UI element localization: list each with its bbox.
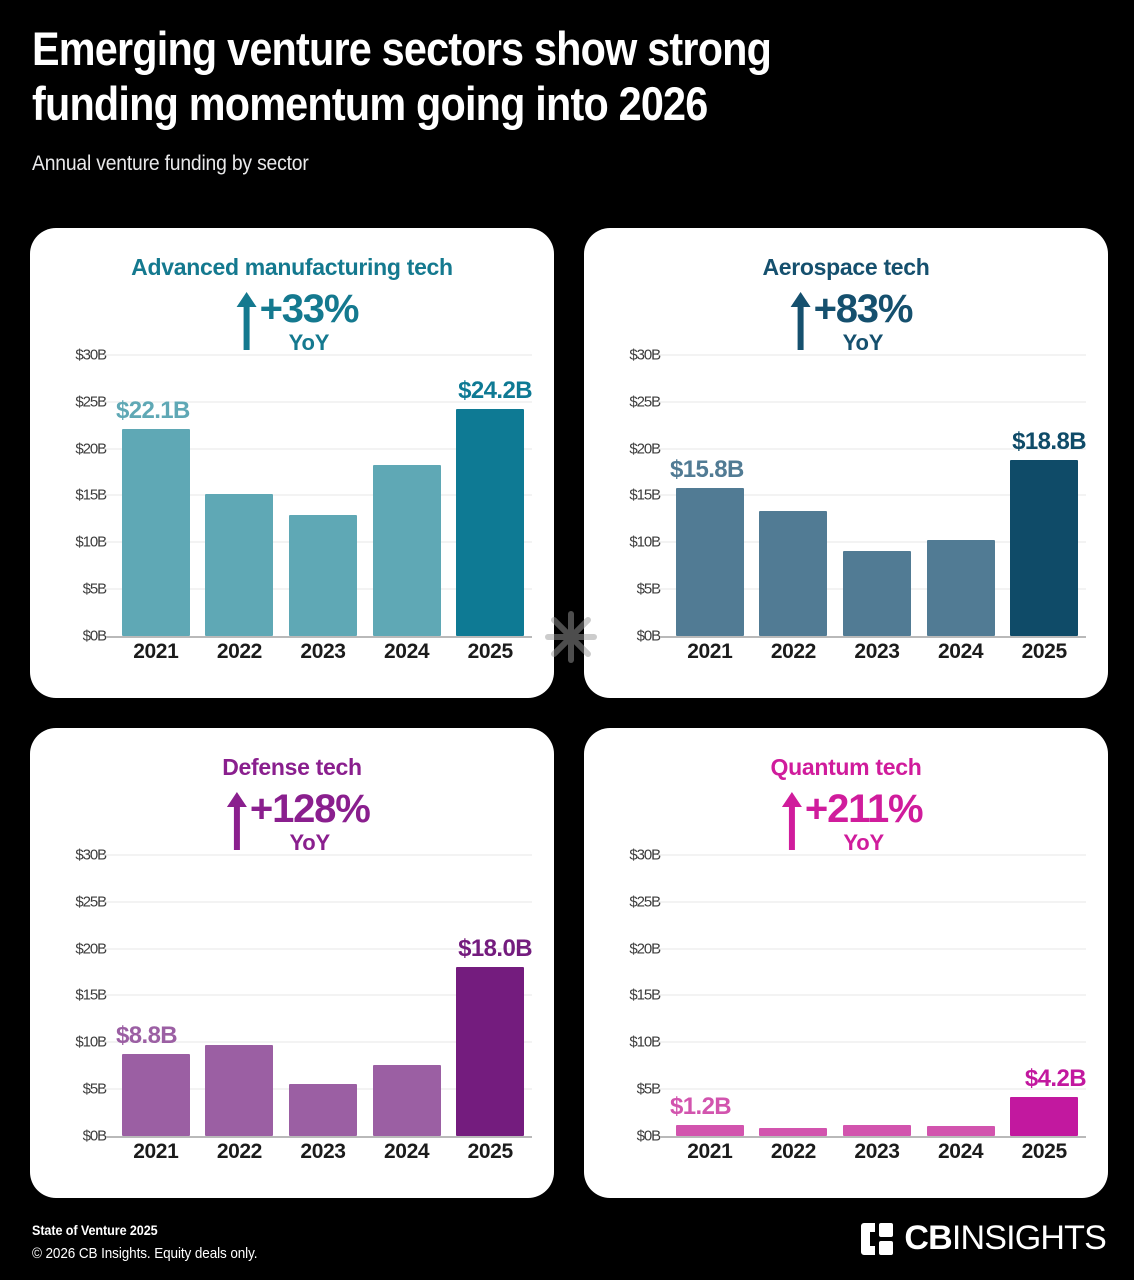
bar[interactable]	[205, 494, 273, 637]
x-axis-tick-label: 2024	[365, 1140, 449, 1164]
bar-value-label: $18.8B	[1012, 428, 1086, 456]
chart-title: Defense tech	[30, 754, 554, 781]
bar[interactable]	[373, 1065, 441, 1136]
bar-column[interactable]	[835, 836, 919, 1136]
bar-column[interactable]	[281, 336, 365, 636]
bar-value-label: $1.2B	[670, 1093, 731, 1121]
y-axis-tick-label: $30B	[629, 346, 660, 363]
bar[interactable]	[676, 1125, 744, 1136]
y-axis-tick-label: $10B	[629, 1034, 660, 1051]
y-axis-tick-label: $10B	[75, 1034, 106, 1051]
bar-column[interactable]: $4.2B	[1002, 836, 1086, 1136]
chart-title: Advanced manufacturing tech	[30, 254, 554, 281]
infographic-root: Emerging venture sectors show strong fun…	[0, 0, 1134, 1280]
y-axis-tick-label: $30B	[629, 846, 660, 863]
y-axis-tick-label: $15B	[629, 487, 660, 504]
y-axis-tick-label: $10B	[75, 534, 106, 551]
bar-column[interactable]	[198, 336, 282, 636]
bar[interactable]	[759, 511, 827, 636]
yoy-percent: +128%	[250, 790, 370, 828]
y-axis: $30B$25B$20B$15B$10B$5B$0B	[606, 336, 668, 636]
x-axis-tick-label: 2025	[448, 640, 532, 664]
bar-value-label: $18.0B	[458, 935, 532, 963]
x-axis-tick-label: 2022	[752, 640, 836, 664]
y-axis-tick-label: $20B	[75, 940, 106, 957]
y-axis: $30B$25B$20B$15B$10B$5B$0B	[52, 836, 114, 1136]
y-axis-tick-label: $20B	[75, 440, 106, 457]
x-axis-tick-label: 2025	[1002, 1140, 1086, 1164]
x-axis-tick-label: 2023	[281, 640, 365, 664]
header: Emerging venture sectors show strong fun…	[32, 22, 1092, 176]
y-axis-tick-label: $25B	[75, 393, 106, 410]
x-axis-tick-label: 2024	[919, 640, 1003, 664]
x-axis: 20212022202320242025	[668, 1140, 1086, 1164]
axis-baseline	[106, 636, 532, 638]
y-axis-tick-label: $0B	[637, 1128, 660, 1145]
footer: State of Venture 2025 © 2026 CB Insights…	[32, 1206, 1106, 1262]
x-axis-tick-label: 2025	[448, 1140, 532, 1164]
footer-copyright: © 2026 CB Insights. Equity deals only.	[32, 1245, 257, 1262]
bar[interactable]	[205, 1045, 273, 1136]
bar-value-label: $15.8B	[670, 456, 744, 484]
y-axis: $30B$25B$20B$15B$10B$5B$0B	[52, 336, 114, 636]
bar-column[interactable]	[198, 836, 282, 1136]
bar-column[interactable]	[919, 336, 1003, 636]
bar-column[interactable]	[365, 336, 449, 636]
bar-column[interactable]: $24.2B	[448, 336, 532, 636]
footer-text-group: State of Venture 2025 © 2026 CB Insights…	[32, 1222, 282, 1262]
bar[interactable]	[122, 1054, 190, 1137]
bar-column[interactable]: $8.8B	[114, 836, 198, 1136]
plot-area: $30B$25B$20B$15B$10B$5B$0B$1.2B$4.2B2021…	[606, 836, 1086, 1180]
bar[interactable]	[289, 1084, 357, 1137]
x-axis: 20212022202320242025	[668, 640, 1086, 664]
bar-column[interactable]: $18.8B	[1002, 336, 1086, 636]
y-axis-tick-label: $30B	[75, 846, 106, 863]
y-axis-tick-label: $0B	[637, 628, 660, 645]
brand-insights-text: INSIGHTS	[952, 1219, 1106, 1258]
x-axis-tick-label: 2022	[198, 640, 282, 664]
x-axis-tick-label: 2025	[1002, 640, 1086, 664]
x-axis-tick-label: 2021	[668, 1140, 752, 1164]
axis-baseline	[106, 1136, 532, 1138]
chart-panel: Aerospace tech+83%YoY$30B$25B$20B$15B$10…	[584, 228, 1108, 698]
bar[interactable]	[759, 1128, 827, 1136]
footer-source: State of Venture 2025	[32, 1222, 257, 1238]
y-axis-tick-label: $20B	[629, 440, 660, 457]
y-axis: $30B$25B$20B$15B$10B$5B$0B	[606, 836, 668, 1136]
bar-series: $22.1B$24.2B	[114, 336, 532, 636]
bar[interactable]	[676, 488, 744, 636]
bar-column[interactable]: $15.8B	[668, 336, 752, 636]
bar[interactable]	[1010, 460, 1078, 636]
plot-area: $30B$25B$20B$15B$10B$5B$0B$8.8B$18.0B202…	[52, 836, 532, 1180]
axis-baseline	[660, 1136, 1086, 1138]
y-axis-tick-label: $5B	[637, 1081, 660, 1098]
brand-logo: CBINSIGHTS	[860, 1219, 1106, 1262]
bar-value-label: $8.8B	[116, 1022, 177, 1050]
y-axis-tick-label: $25B	[75, 893, 106, 910]
axis-baseline	[660, 636, 1086, 638]
cb-insights-logo-icon	[860, 1222, 894, 1256]
x-axis-tick-label: 2022	[752, 1140, 836, 1164]
plot-area: $30B$25B$20B$15B$10B$5B$0B$22.1B$24.2B20…	[52, 336, 532, 680]
bar[interactable]	[373, 465, 441, 636]
chart-title: Aerospace tech	[584, 254, 1108, 281]
page-title: Emerging venture sectors show strong fun…	[32, 22, 965, 132]
y-axis-tick-label: $10B	[629, 534, 660, 551]
x-axis-tick-label: 2023	[835, 1140, 919, 1164]
chart-panel: Advanced manufacturing tech+33%YoY$30B$2…	[30, 228, 554, 698]
bar[interactable]	[289, 515, 357, 636]
bar-value-label: $4.2B	[1025, 1065, 1086, 1093]
bar[interactable]	[1010, 1097, 1078, 1136]
x-axis-tick-label: 2024	[365, 640, 449, 664]
x-axis-tick-label: 2021	[114, 1140, 198, 1164]
x-axis: 20212022202320242025	[114, 640, 532, 664]
chart-title: Quantum tech	[584, 754, 1108, 781]
y-axis-tick-label: $25B	[629, 393, 660, 410]
bar-value-label: $22.1B	[116, 397, 190, 425]
x-axis-tick-label: 2021	[668, 640, 752, 664]
bar-column[interactable]: $22.1B	[114, 336, 198, 636]
y-axis-tick-label: $5B	[83, 1081, 106, 1098]
brand-wordmark: CBINSIGHTS	[904, 1219, 1106, 1258]
bar[interactable]	[843, 1125, 911, 1136]
y-axis-tick-label: $15B	[75, 987, 106, 1004]
bar[interactable]	[456, 967, 524, 1136]
bar[interactable]	[843, 551, 911, 636]
bar-value-label: $24.2B	[458, 377, 532, 405]
x-axis-tick-label: 2022	[198, 1140, 282, 1164]
bar-column[interactable]: $18.0B	[448, 836, 532, 1136]
bar[interactable]	[456, 409, 524, 636]
page-subtitle: Annual venture funding by sector	[32, 152, 1007, 176]
bar-column[interactable]	[281, 836, 365, 1136]
x-axis-tick-label: 2023	[281, 1140, 365, 1164]
bar-column[interactable]	[365, 836, 449, 1136]
y-axis-tick-label: $25B	[629, 893, 660, 910]
bar[interactable]	[927, 1126, 995, 1136]
y-axis-tick-label: $5B	[637, 581, 660, 598]
chart-panel: Defense tech+128%YoY$30B$25B$20B$15B$10B…	[30, 728, 554, 1198]
bar-column[interactable]	[752, 336, 836, 636]
x-axis-tick-label: 2024	[919, 1140, 1003, 1164]
y-axis-tick-label: $5B	[83, 581, 106, 598]
chart-grid: Advanced manufacturing tech+33%YoY$30B$2…	[30, 228, 1108, 1203]
y-axis-tick-label: $30B	[75, 346, 106, 363]
bar-series: $1.2B$4.2B	[668, 836, 1086, 1136]
y-axis-tick-label: $20B	[629, 940, 660, 957]
y-axis-tick-label: $15B	[629, 987, 660, 1004]
bar[interactable]	[927, 540, 995, 636]
x-axis: 20212022202320242025	[114, 1140, 532, 1164]
yoy-percent: +83%	[814, 290, 913, 328]
bar-series: $8.8B$18.0B	[114, 836, 532, 1136]
bar-column[interactable]	[752, 836, 836, 1136]
y-axis-tick-label: $15B	[75, 487, 106, 504]
yoy-percent: +211%	[805, 790, 922, 828]
y-axis-tick-label: $0B	[83, 628, 106, 645]
bar-column[interactable]	[919, 836, 1003, 1136]
chart-panel: Quantum tech+211%YoY$30B$25B$20B$15B$10B…	[584, 728, 1108, 1198]
x-axis-tick-label: 2023	[835, 640, 919, 664]
bar[interactable]	[122, 429, 190, 636]
bar-column[interactable]	[835, 336, 919, 636]
bar-column[interactable]: $1.2B	[668, 836, 752, 1136]
plot-area: $30B$25B$20B$15B$10B$5B$0B$15.8B$18.8B20…	[606, 336, 1086, 680]
yoy-percent: +33%	[260, 290, 359, 328]
brand-cb-text: CB	[904, 1219, 952, 1258]
bar-series: $15.8B$18.8B	[668, 336, 1086, 636]
x-axis-tick-label: 2021	[114, 640, 198, 664]
y-axis-tick-label: $0B	[83, 1128, 106, 1145]
